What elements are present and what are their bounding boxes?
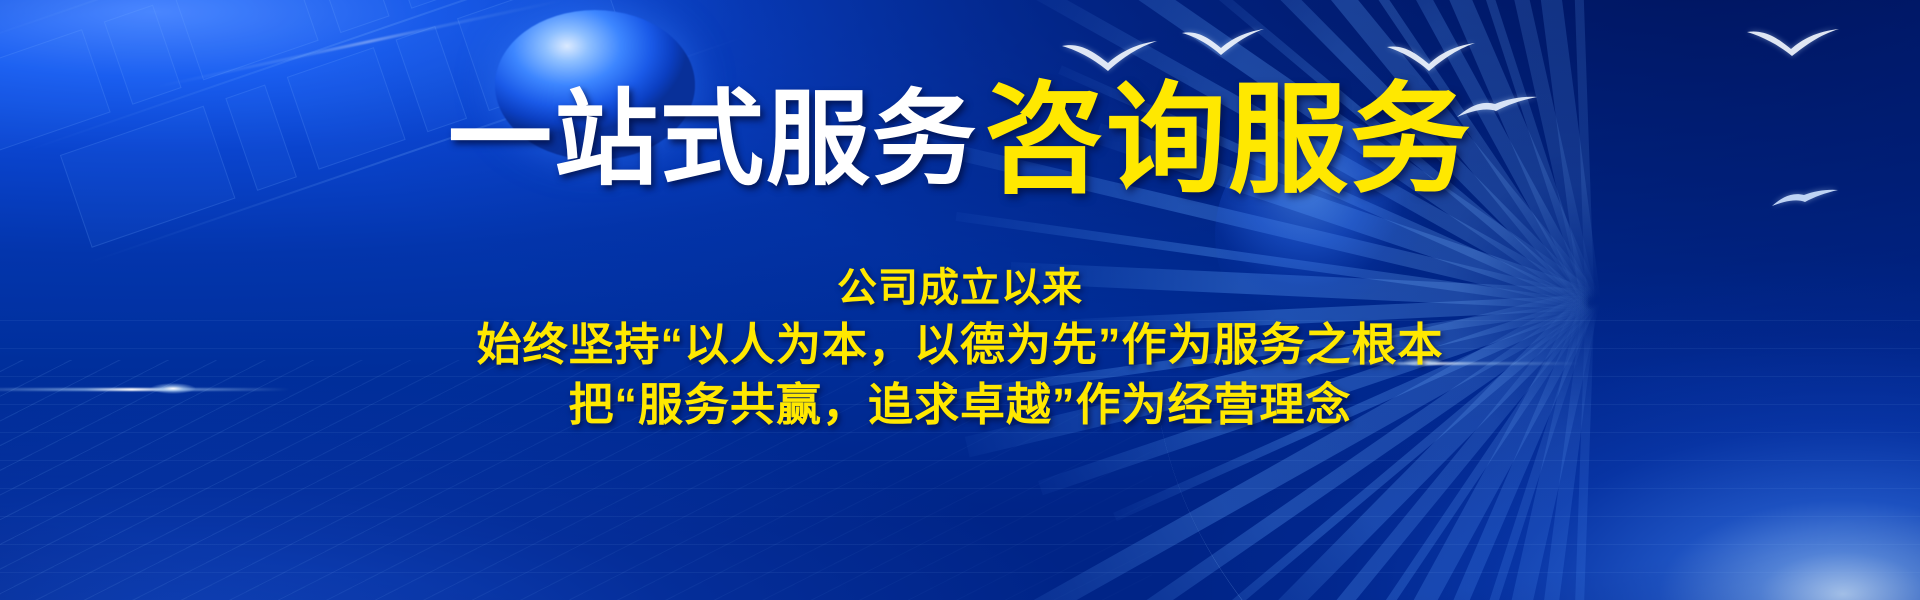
slogan-line: 公司成立以来: [0, 262, 1920, 315]
slogan-block: 公司成立以来 始终坚持“以人为本，以德为先”作为服务之根本 把“服务共赢，追求卓…: [0, 262, 1920, 435]
slogan-line: 把“服务共赢，追求卓越”作为经营理念: [0, 375, 1920, 435]
headline-primary: 一站式服务: [448, 82, 978, 198]
headline: 一站式服务咨询服务: [0, 74, 1920, 194]
promotional-banner: 一站式服务咨询服务 公司成立以来 始终坚持“以人为本，以德为先”作为服务之根本 …: [0, 0, 1920, 600]
headline-accent: 咨询服务: [984, 73, 1472, 207]
banner-content: 一站式服务咨询服务 公司成立以来 始终坚持“以人为本，以德为先”作为服务之根本 …: [0, 0, 1920, 600]
slogan-line: 始终坚持“以人为本，以德为先”作为服务之根本: [0, 315, 1920, 375]
